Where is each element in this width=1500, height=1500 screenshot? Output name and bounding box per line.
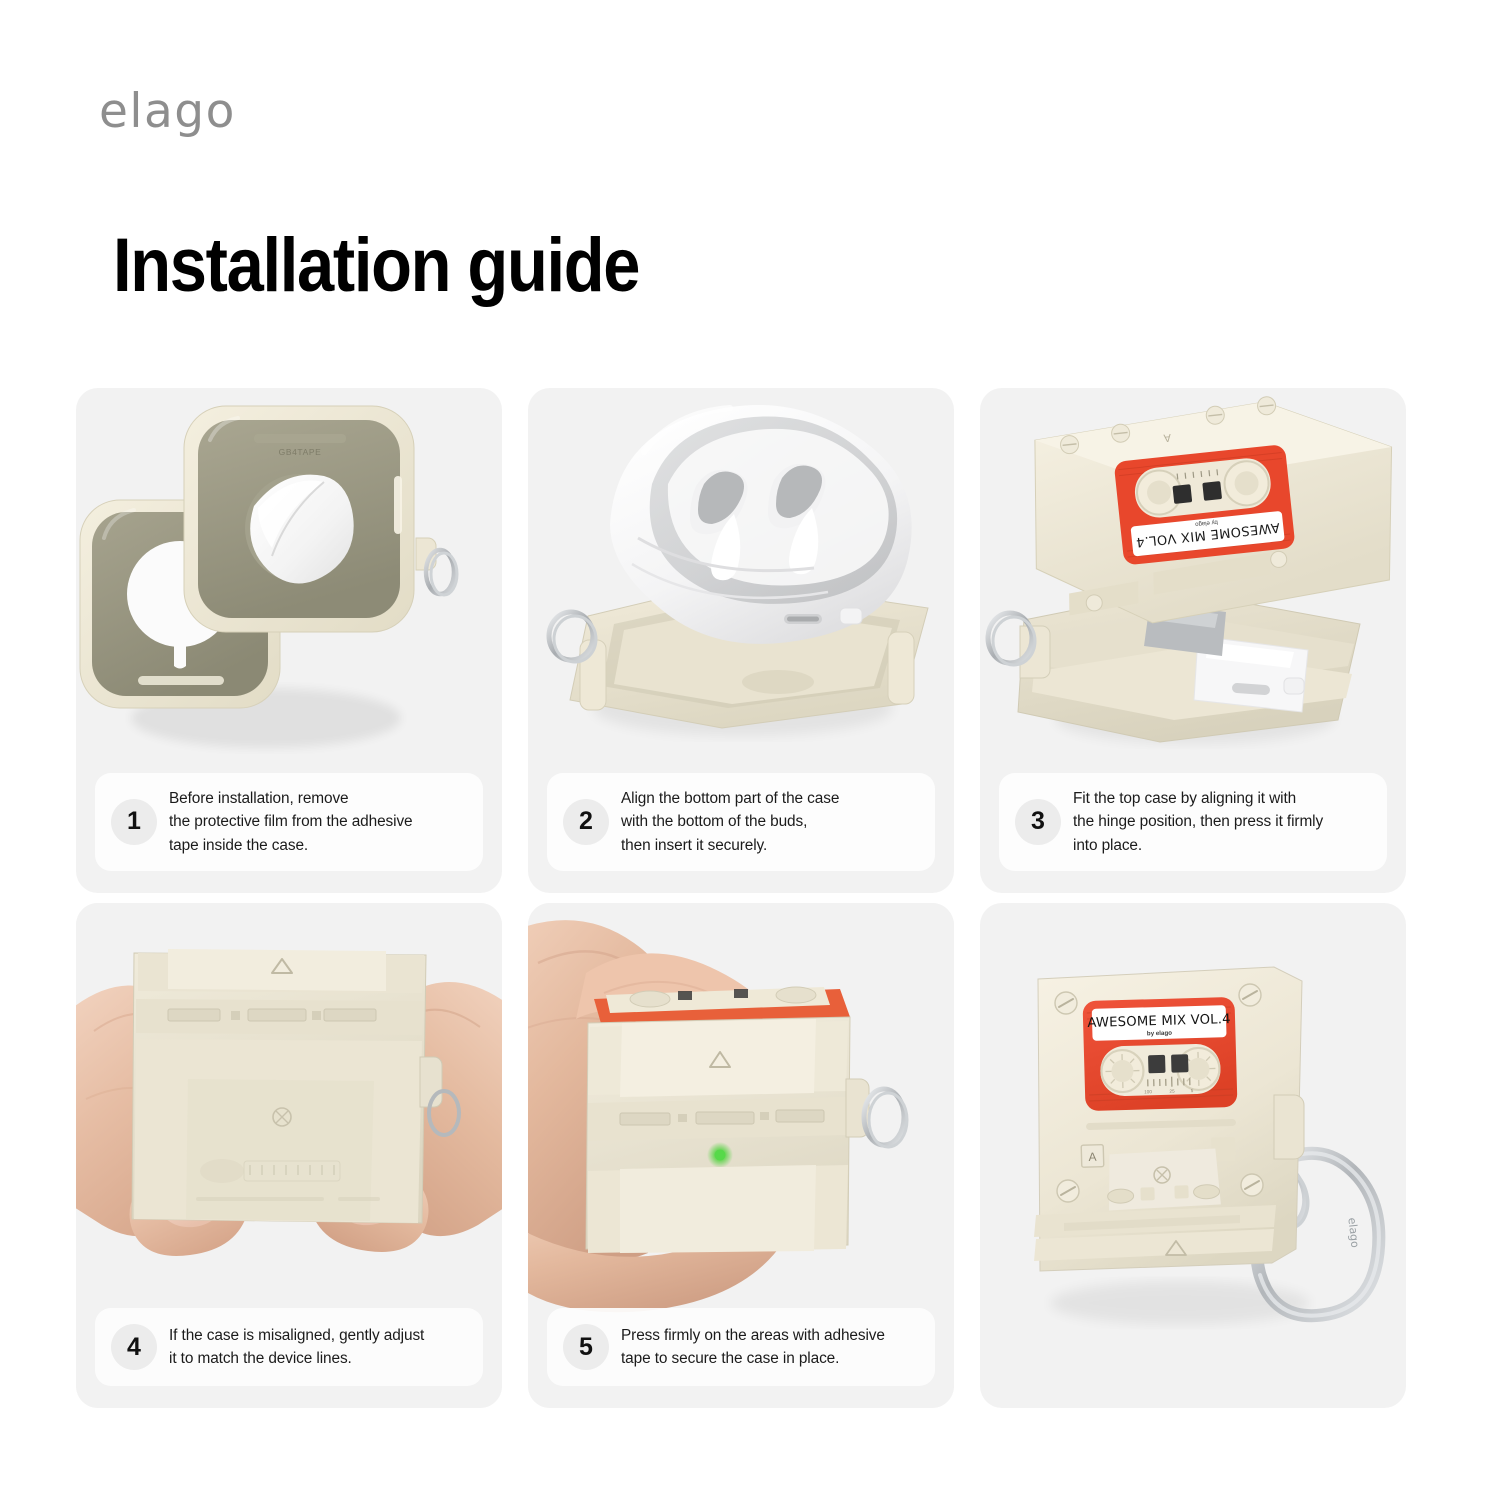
step-text: Press firmly on the areas with adhesive … [621,1324,885,1371]
step-panel-4: 4 If the case is misaligned, gently adju… [76,903,502,1408]
counter-tick-25: 25 [1169,1089,1175,1094]
cassette-label-byline: by elago [1147,1030,1173,1038]
step-number-badge: 1 [111,799,157,845]
keyring [416,538,457,595]
steps-grid: GB4TAPE [76,388,1424,1408]
step-panel-3: A AWESOME MIX VOL.4 by elago [980,388,1406,893]
cassette-case-front: AWESOME MIX VOL.4 by elago [1034,967,1304,1271]
step-panel-1: GB4TAPE [76,388,502,893]
step-caption-1: 1 Before installation, remove the protec… [95,773,483,871]
led-indicator [715,1150,726,1161]
top-cassette-cover: A AWESOME MIX VOL.4 by elago [1011,388,1406,635]
installation-guide-page: elago Installation guide [0,0,1500,1500]
top-case-half: GB4TAPE [184,406,414,632]
step-text: If the case is misaligned, gently adjust… [169,1324,424,1371]
step-text: Fit the top case by aligning it with the… [1073,787,1323,857]
step-number-badge: 5 [563,1324,609,1370]
page-title: Installation guide [113,222,639,309]
brand-logo: elago [99,84,236,139]
step-caption-3: 3 Fit the top case by aligning it with t… [999,773,1387,871]
step-caption-2: 2 Align the bottom part of the case with… [547,773,935,871]
cassette-case-rear-view [132,949,459,1223]
carabiner-engraving: elago [1345,1217,1361,1249]
step-text: Align the bottom part of the case with t… [621,787,839,857]
finished-cassette-case-with-carabiner-image: elago [980,903,1406,1408]
step-caption-4: 4 If the case is misaligned, gently adju… [95,1308,483,1386]
step-number-badge: 3 [1015,799,1061,845]
step-panel-5: 5 Press firmly on the areas with adhesiv… [528,903,954,1408]
step-caption-5: 5 Press firmly on the areas with adhesiv… [547,1308,935,1386]
side-mark-label: A [1088,1150,1096,1164]
counter-tick-100: 100 [1144,1089,1152,1094]
step-panel-6: elago [980,903,1406,1408]
step-number-badge: 2 [563,799,609,845]
step-text: Before installation, remove the protecti… [169,787,413,857]
step-number-badge: 4 [111,1324,157,1370]
inner-emboss-text: GB4TAPE [279,447,322,457]
step-panel-2: 2 Align the bottom part of the case with… [528,388,954,893]
